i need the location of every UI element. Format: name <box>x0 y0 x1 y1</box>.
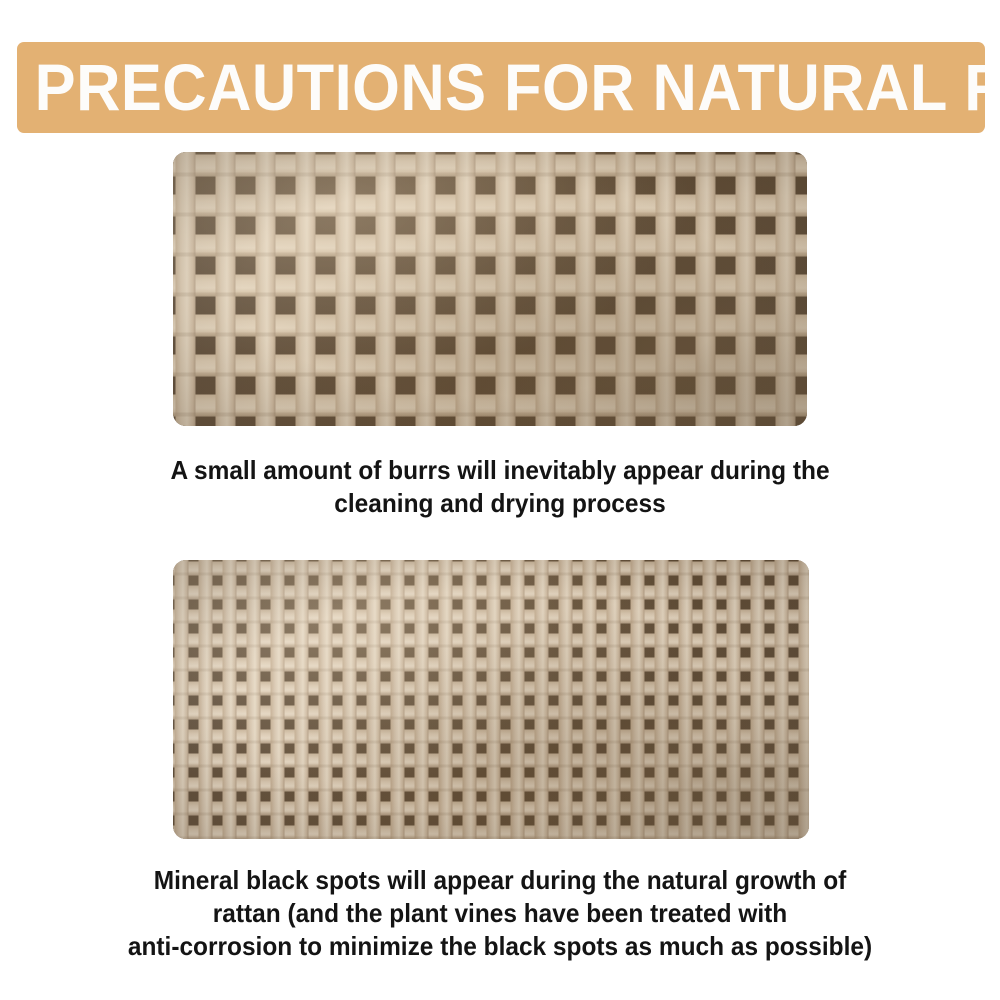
header-banner: PRECAUTIONS FOR NATURAL RATTAN <box>17 42 985 133</box>
weave-texture-coarse <box>173 152 807 426</box>
rattan-weave-coarse-photo <box>173 152 807 426</box>
weave-texture-fine <box>173 560 809 839</box>
rattan-weave-fine-photo <box>173 560 809 839</box>
infographic-page: PRECAUTIONS FOR NATURAL RATTAN A small a… <box>0 0 1000 1000</box>
page-title: PRECAUTIONS FOR NATURAL RATTAN <box>17 54 985 120</box>
weave-vertical-strands <box>173 152 807 426</box>
caption-mineral-black-spots: Mineral black spots will appear during t… <box>30 864 970 963</box>
caption-burrs: A small amount of burrs will inevitably … <box>30 454 970 520</box>
weave-vertical-strands <box>173 560 809 839</box>
